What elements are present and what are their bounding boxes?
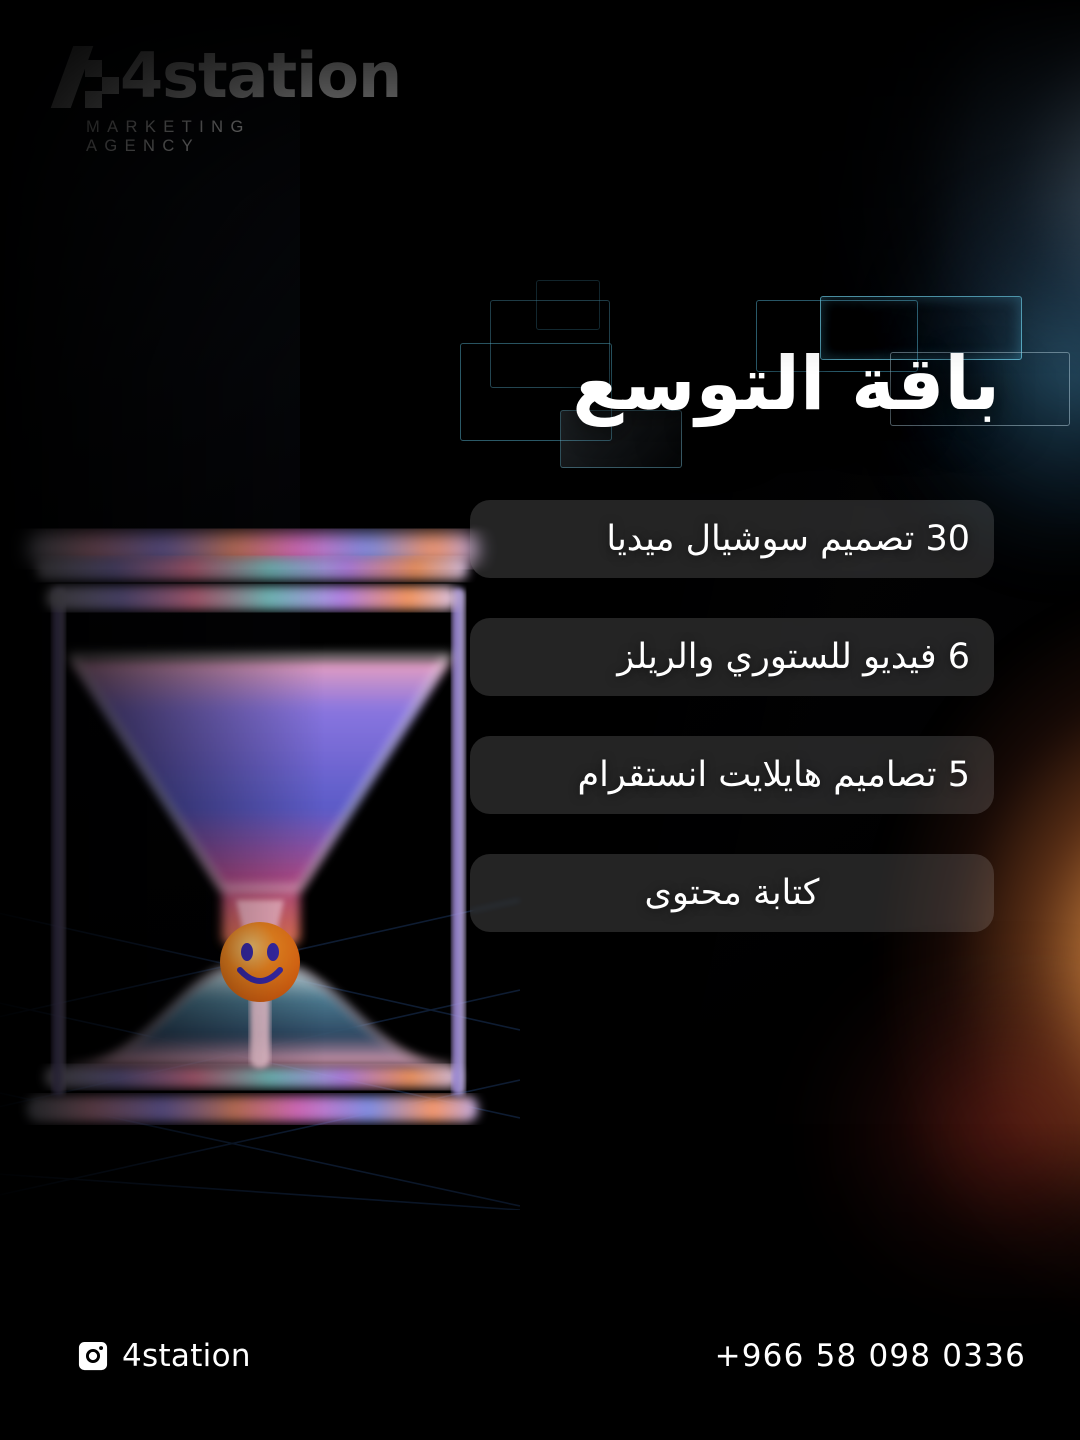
orange-smiley-ball-icon (220, 922, 300, 1002)
page-title: باقة التوسع (572, 344, 1000, 425)
hourglass-pillar-left (52, 588, 65, 1096)
logo-tagline: MARKETING AGENCY (86, 118, 356, 156)
feature-pill: كتابة محتوى (470, 854, 994, 932)
feature-pill: 30 تصميم سوشيال ميديا (470, 500, 994, 578)
four-slash-squares-icon (56, 46, 122, 108)
feature-list: 30 تصميم سوشيال ميديا 6 فيديو للستوري وا… (470, 500, 994, 932)
hourglass-top-cap (26, 532, 478, 610)
feature-pill: 6 فيديو للستوري والريلز (470, 618, 994, 696)
feature-pill: 5 تصاميم هايلايت انستقرام (470, 736, 994, 814)
instagram-handle-text: 4station (122, 1338, 251, 1374)
hourglass-svg (0, 470, 520, 1210)
footer: 4station +966 58 098 0336 (0, 1338, 1080, 1386)
phone-number[interactable]: +966 58 098 0336 (715, 1338, 1026, 1374)
instagram-icon[interactable] (78, 1341, 108, 1371)
deco-rect-7 (536, 280, 600, 330)
feature-label: كتابة محتوى (645, 876, 820, 911)
instagram-handle-group[interactable]: 4station (78, 1338, 251, 1374)
feature-label: 6 فيديو للستوري والريلز (617, 640, 970, 675)
neon-hourglass-illustration (0, 470, 520, 1210)
logo-wordmark: 4station (120, 46, 401, 106)
poster-canvas: 4station MARKETING AGENCY باقة التوسع 30… (0, 0, 1080, 1440)
feature-label: 5 تصاميم هايلايت انستقرام (577, 758, 970, 793)
brand-logo: 4station MARKETING AGENCY (56, 46, 356, 156)
hourglass-pillar-right (452, 588, 465, 1096)
feature-label: 30 تصميم سوشيال ميديا (606, 522, 970, 557)
